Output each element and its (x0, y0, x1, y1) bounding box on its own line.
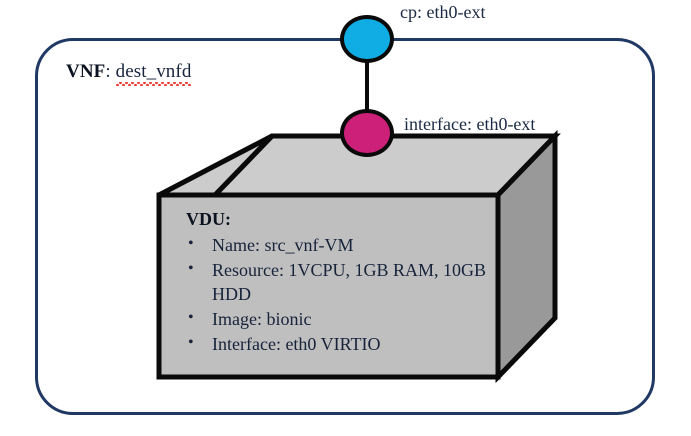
vdu-attribute-list: •Name: src_vnf-VM •Resource: 1VCPU, 1GB … (186, 234, 486, 357)
vdu-item-text: Name: src_vnf-VM (212, 235, 353, 255)
vnf-name: dest_vnfd (116, 61, 192, 83)
vnf-label: VNF: dest_vnfd (66, 61, 191, 83)
vdu-item-text: Interface: eth0 VIRTIO (212, 334, 381, 354)
interface-label: interface: eth0-ext (404, 114, 535, 135)
bullet-icon: • (188, 307, 194, 328)
list-item: •Resource: 1VCPU, 1GB RAM, 10GB HDD (186, 259, 486, 307)
list-item: •Interface: eth0 VIRTIO (186, 333, 486, 357)
bullet-icon: • (188, 258, 194, 279)
list-item: •Image: bionic (186, 308, 486, 332)
bullet-icon: • (188, 332, 194, 353)
diagram-canvas: VNF: dest_vnfd VDU: •Name: src_vnf-VM •R… (0, 0, 691, 436)
vdu-content: VDU: •Name: src_vnf-VM •Resource: 1VCPU,… (186, 208, 486, 358)
vnf-label-separator: : (105, 61, 115, 82)
cp-label: cp: eth0-ext (400, 2, 485, 23)
list-item: •Name: src_vnf-VM (186, 234, 486, 258)
interface-circle-icon (340, 109, 394, 157)
vdu-item-text: Resource: 1VCPU, 1GB RAM, 10GB HDD (212, 260, 486, 304)
vdu-title: VDU: (186, 208, 486, 232)
bullet-icon: • (188, 233, 194, 254)
connection-point-circle-icon (340, 15, 394, 63)
vnf-label-key: VNF (66, 61, 105, 82)
vdu-item-text: Image: bionic (212, 309, 311, 329)
